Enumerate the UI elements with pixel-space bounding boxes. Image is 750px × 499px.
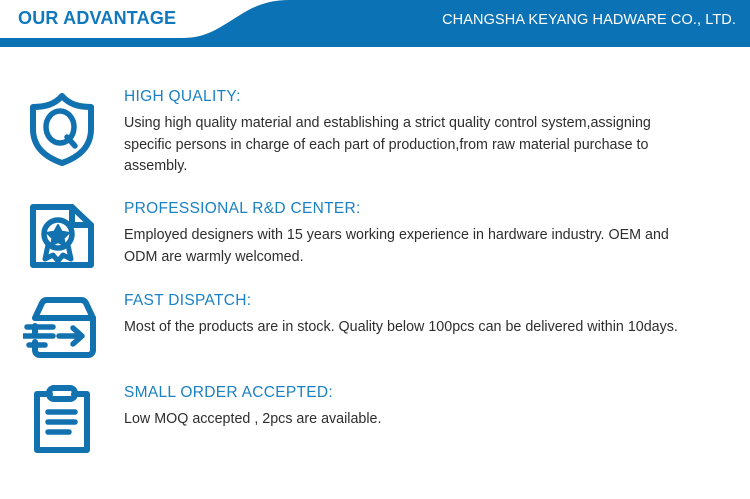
fast-shipping-box-icon-glyph	[23, 296, 101, 360]
advantage-text-block: SMALL ORDER ACCEPTED: Low MOQ accepted ,…	[124, 384, 738, 431]
advantage-text-block: HIGH QUALITY: Using high quality materia…	[124, 88, 738, 178]
advantages-list: HIGH QUALITY: Using high quality materia…	[0, 88, 750, 455]
advantage-item-rd-center: PROFESSIONAL R&D CENTER: Employed design…	[0, 200, 750, 270]
advantage-text-block: FAST DISPATCH: Most of the products are …	[124, 292, 738, 339]
advantage-heading: SMALL ORDER ACCEPTED:	[124, 384, 698, 401]
advantage-item-small-order: SMALL ORDER ACCEPTED: Low MOQ accepted ,…	[0, 384, 750, 455]
certificate-award-icon	[0, 200, 124, 270]
advantage-body: Most of the products are in stock. Quali…	[124, 317, 698, 339]
page-header: OUR ADVANTAGE CHANGSHA KEYANG HADWARE CO…	[0, 0, 750, 47]
clipboard-order-icon-glyph	[29, 385, 95, 455]
shield-quality-icon	[0, 88, 124, 167]
advantage-text-block: PROFESSIONAL R&D CENTER: Employed design…	[124, 200, 738, 268]
clipboard-order-icon	[0, 384, 124, 455]
advantage-body: Using high quality material and establis…	[124, 113, 698, 178]
certificate-award-icon-glyph	[25, 202, 99, 270]
company-name: CHANGSHA KEYANG HADWARE CO., LTD.	[442, 12, 736, 28]
advantage-body: Low MOQ accepted , 2pcs are available.	[124, 409, 698, 431]
advantage-body: Employed designers with 15 years working…	[124, 225, 698, 268]
advantage-item-fast-dispatch: FAST DISPATCH: Most of the products are …	[0, 292, 750, 360]
advantage-item-high-quality: HIGH QUALITY: Using high quality materia…	[0, 88, 750, 178]
page-title: OUR ADVANTAGE	[18, 8, 176, 29]
advantage-heading: PROFESSIONAL R&D CENTER:	[124, 200, 698, 217]
fast-shipping-box-icon	[0, 292, 124, 360]
advantage-heading: HIGH QUALITY:	[124, 88, 698, 105]
advantage-heading: FAST DISPATCH:	[124, 292, 698, 309]
shield-quality-icon-glyph	[25, 91, 99, 167]
